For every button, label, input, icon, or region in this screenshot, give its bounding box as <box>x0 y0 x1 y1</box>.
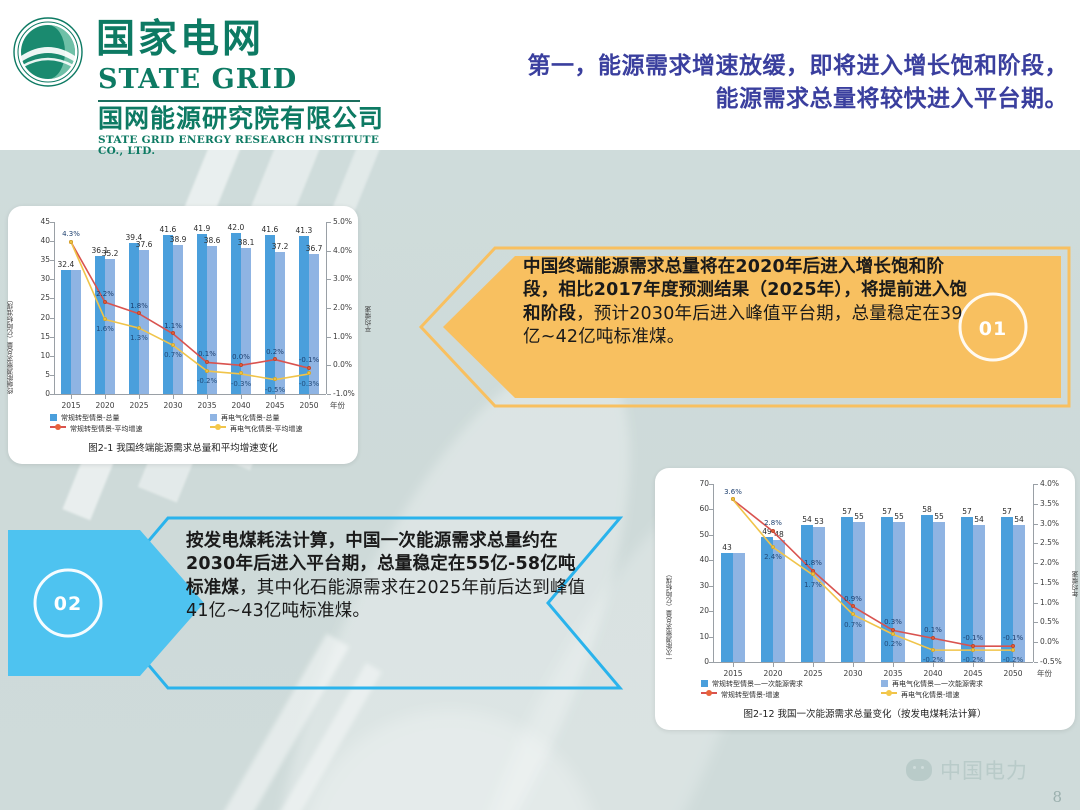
legend-swatch <box>210 414 217 421</box>
logo-divider <box>98 100 360 102</box>
chart-legend: 常规转型情景-总量再电气化情景-总量常规转型情景-平均增速再电气化情景-平均增速 <box>8 206 358 464</box>
legend-line-marker <box>210 426 226 428</box>
callout-02-text-rest: ，其中化石能源需求在2025年前后达到峰值41亿~43亿吨标准煤。 <box>186 578 585 621</box>
legend-line-marker <box>881 692 897 694</box>
callout-01-badge: 01 <box>963 300 1023 358</box>
slide-header: 国家电网 STATE GRID 国网能源研究院有限公司 STATE GRID E… <box>0 0 1080 150</box>
legend-swatch <box>881 680 888 687</box>
legend-line-marker <box>701 692 717 694</box>
logo-company-en: STATE GRID <box>98 66 297 93</box>
watermark-label: 中国电力 <box>940 755 1028 785</box>
state-grid-globe-icon <box>12 16 84 88</box>
callout-01-text-rest: ，预计2030年后进入峰值平台期，总量稳定在39亿~42亿吨标准煤。 <box>523 304 963 347</box>
page-number: 8 <box>1052 788 1062 806</box>
chart-legend: 常规转型情景—一次能源需求再电气化情景—一次能源需求常规转型情景-增速再电气化情… <box>655 468 1075 730</box>
chart-caption: 图2-12 我国一次能源需求总量变化（按发电煤耗法计算） <box>655 706 1075 720</box>
legend-item: 再电气化情景-增速 <box>881 692 960 699</box>
callout-02-badge: 02 <box>38 575 98 633</box>
chart-card-terminal-energy: 051015202530354045-1.0%0.0%1.0%2.0%3.0%4… <box>8 206 358 464</box>
legend-swatch <box>50 414 57 421</box>
logo-company-cn: 国家电网 <box>96 20 264 59</box>
watermark: 中国电力 <box>906 755 1028 785</box>
legend-item: 常规转型情景-增速 <box>701 692 780 699</box>
state-grid-logo: 国家电网 STATE GRID 国网能源研究院有限公司 STATE GRID E… <box>12 14 392 139</box>
legend-item: 再电气化情景-总量 <box>210 414 280 422</box>
wechat-icon <box>906 759 932 781</box>
callout-02-text: 按发电煤耗法计算，中国一次能源需求总量约在2030年后进入平台期，总量稳定在55… <box>186 530 586 624</box>
legend-swatch <box>701 680 708 687</box>
callout-01-text: 中国终端能源需求总量将在2020年后进入增长饱和阶段，相比2017年度预测结果（… <box>523 256 968 350</box>
chart-caption: 图2-1 我国终端能源需求总量和平均增速变化 <box>8 440 358 454</box>
legend-item: 常规转型情景—一次能源需求 <box>701 680 803 688</box>
legend-line-marker <box>50 426 66 428</box>
page-title-line1: 第一，能源需求增速放缓，即将进入增长饱和阶段， <box>408 50 1068 83</box>
callout-01: 中国终端能源需求总量将在2020年后进入增长饱和阶段，相比2017年度预测结果（… <box>415 242 1075 412</box>
logo-institute-cn: 国网能源研究院有限公司 <box>98 106 384 131</box>
legend-item: 常规转型情景-总量 <box>50 414 120 422</box>
legend-item: 再电气化情景-平均增速 <box>210 426 303 433</box>
chart-card-primary-energy: 010203040506070-0.5%0.0%0.5%1.0%1.5%2.0%… <box>655 468 1075 730</box>
logo-institute-en: STATE GRID ENERGY RESEARCH INSTITUTE CO.… <box>98 135 392 156</box>
callout-02: 按发电煤耗法计算，中国一次能源需求总量约在2030年后进入平台期，总量稳定在55… <box>8 512 628 694</box>
page-title: 第一，能源需求增速放缓，即将进入增长饱和阶段， 能源需求总量将较快进入平台期。 <box>408 50 1068 115</box>
legend-item: 再电气化情景—一次能源需求 <box>881 680 983 688</box>
slide-root: 国家电网 STATE GRID 国网能源研究院有限公司 STATE GRID E… <box>0 0 1080 810</box>
legend-item: 常规转型情景-平均增速 <box>50 426 143 433</box>
y2-axis-title: 平均增速 <box>366 286 373 332</box>
page-title-line2: 能源需求总量将较快进入平台期。 <box>408 83 1068 116</box>
